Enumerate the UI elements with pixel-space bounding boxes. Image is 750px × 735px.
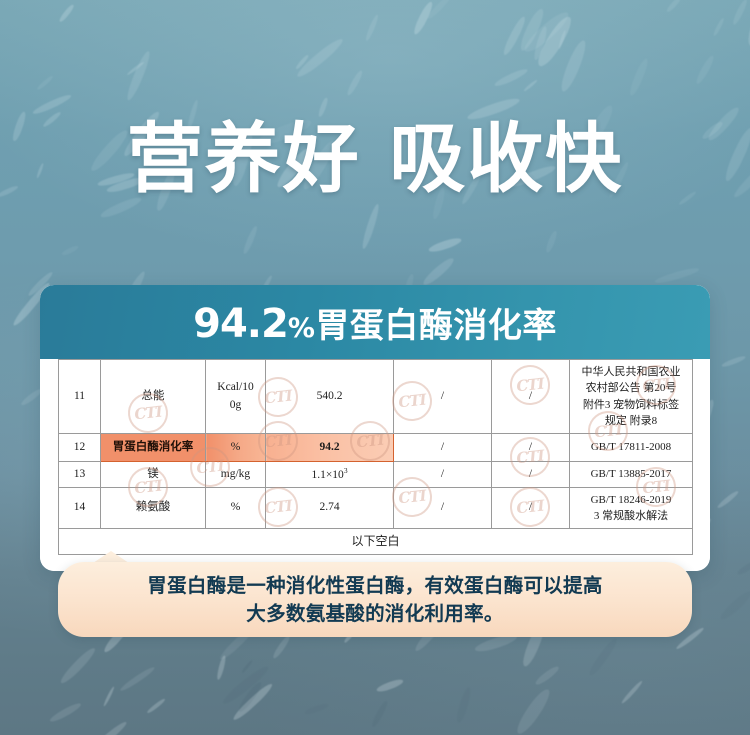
row-value-exponent: 3: [344, 466, 348, 475]
caption-text: 胃蛋白酶是一种消化性蛋白酶，有效蛋白酶可以提高 大多数氨基酸的消化利用率。: [147, 572, 602, 627]
row-spec: /: [394, 462, 492, 488]
table-row: 13 镁 mg/kg 1.1×103 / / GB/T 13885-2017: [59, 462, 693, 488]
table-row: 14 赖氨酸 % 2.74 / / GB/T 18246-2019 3 常规酸水…: [59, 488, 693, 529]
row-unit: Kcal/10 0g: [206, 360, 266, 434]
row-index: 12: [59, 434, 101, 462]
percent-sign: %: [288, 313, 316, 344]
row-item: 总能: [101, 360, 206, 434]
row-index: 13: [59, 462, 101, 488]
row-unit: %: [206, 434, 266, 462]
row-unit: mg/kg: [206, 462, 266, 488]
row-standard: GB/T 17811-2008: [570, 434, 693, 462]
row-value: 540.2: [266, 360, 394, 434]
row-unit-line1: Kcal/10: [217, 381, 253, 393]
row-verdict: /: [492, 488, 570, 529]
row-unit-line2: 0g: [230, 399, 242, 411]
row-spec: /: [394, 360, 492, 434]
digest-rate-label: 胃蛋白酶消化率: [315, 306, 557, 346]
row-item: 镁: [101, 462, 206, 488]
row-value: 94.2: [266, 434, 394, 462]
row-verdict: /: [492, 434, 570, 462]
row-index: 11: [59, 360, 101, 434]
report-table: 11 总能 Kcal/10 0g 540.2 / / 中华人民共和国农业 农村部…: [58, 359, 693, 555]
caption-ribbon: 胃蛋白酶是一种消化性蛋白酶，有效蛋白酶可以提高 大多数氨基酸的消化利用率。: [58, 562, 692, 637]
report-card: 94.2%胃蛋白酶消化率 11 总能 Kcal/10 0g 540.2 / /: [40, 285, 710, 571]
table-row: 11 总能 Kcal/10 0g 540.2 / / 中华人民共和国农业 农村部…: [59, 360, 693, 434]
row-value: 1.1×103: [266, 462, 394, 488]
row-spec: /: [394, 434, 492, 462]
row-index: 14: [59, 488, 101, 529]
row-verdict: /: [492, 360, 570, 434]
table-row-highlighted: 12 胃蛋白酶消化率 % 94.2 / / GB/T 17811-2008: [59, 434, 693, 462]
row-standard: 中华人民共和国农业 农村部公告 第20号 附件3 宠物饲料标签 规定 附录8: [570, 360, 693, 434]
row-unit: %: [206, 488, 266, 529]
row-value-base: 1.1×10: [311, 469, 343, 481]
blank-row-text: 以下空白: [59, 529, 693, 555]
digest-rate-banner: 94.2%胃蛋白酶消化率: [40, 285, 710, 359]
row-item: 胃蛋白酶消化率: [101, 434, 206, 462]
row-standard: GB/T 18246-2019 3 常规酸水解法: [570, 488, 693, 529]
table-row-blank: 以下空白: [59, 529, 693, 555]
row-standard: GB/T 13885-2017: [570, 462, 693, 488]
page-title: 营养好 吸收快: [0, 121, 750, 197]
report-table-wrap: 11 总能 Kcal/10 0g 540.2 / / 中华人民共和国农业 农村部…: [40, 359, 710, 555]
row-verdict: /: [492, 462, 570, 488]
digest-rate-value: 94.2: [193, 301, 288, 347]
banner-text: 94.2%胃蛋白酶消化率: [193, 298, 557, 347]
row-spec: /: [394, 488, 492, 529]
row-value: 2.74: [266, 488, 394, 529]
row-item: 赖氨酸: [101, 488, 206, 529]
